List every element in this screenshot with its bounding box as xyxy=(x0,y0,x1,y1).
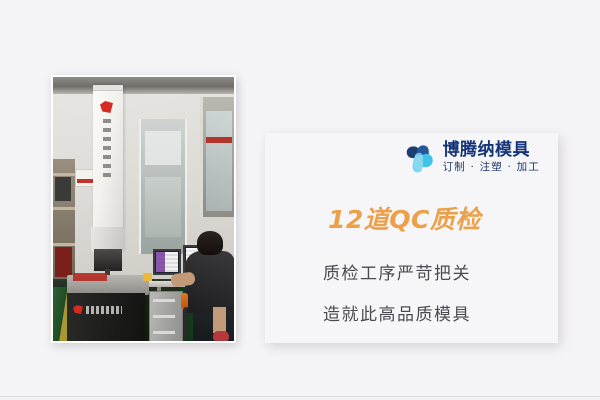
photo-operator-head xyxy=(197,231,223,255)
photo-card xyxy=(51,75,236,343)
photo-operator-shoe xyxy=(213,331,229,341)
factory-cmm-photo xyxy=(53,77,234,341)
photo-controller-cabinet xyxy=(67,293,145,341)
photo-drawer-handle xyxy=(153,331,175,334)
photo-window-red-band xyxy=(206,137,232,143)
body-line: 造就此高品质模具 xyxy=(323,300,471,325)
brand-mark-icon xyxy=(403,140,437,174)
photo-door-inner-panel xyxy=(145,131,181,165)
brand-logo-lockup: 博腾纳模具 订制 · 注塑 · 加工 xyxy=(403,140,540,174)
bottom-divider xyxy=(0,396,600,400)
photo-rack-shelf xyxy=(53,207,75,210)
headline-title: 12道QC质检 xyxy=(328,200,481,236)
brand-text-block: 博腾纳模具 订制 · 注塑 · 加工 xyxy=(443,142,540,173)
photo-cmm-vertical-text xyxy=(103,119,111,177)
photo-window-glass xyxy=(206,111,232,211)
photo-ceiling xyxy=(53,77,234,94)
photo-monitor-left xyxy=(153,249,181,275)
photo-drawer-handle xyxy=(153,299,175,302)
photo-rack-box xyxy=(55,177,71,201)
photo-cmm-column-top xyxy=(93,85,123,91)
photo-rack-shelf xyxy=(53,173,75,176)
content-panel: 博腾纳模具 订制 · 注塑 · 加工 12道QC质检 质检工序严苛把关 造就此高… xyxy=(265,133,558,343)
photo-rack-shelf xyxy=(53,243,75,246)
body-line: 质检工序严苛把关 xyxy=(323,259,471,284)
brand-name: 博腾纳模具 xyxy=(443,142,540,159)
photo-rack-box xyxy=(55,247,72,277)
photo-desk-small-box xyxy=(143,273,152,281)
brand-tagline: 订制 · 注塑 · 加工 xyxy=(443,162,540,173)
photo-door-inner-lower xyxy=(145,177,181,237)
body-copy: 质检工序严苛把关 造就此高品质模具 xyxy=(323,259,471,341)
photo-cabinet-text xyxy=(86,306,122,314)
photo-drawer-handle xyxy=(153,315,175,318)
photo-cable xyxy=(184,307,187,339)
photo-cmm-red-label xyxy=(73,273,107,281)
photo-operator-leg xyxy=(213,307,226,333)
photo-cmm-head xyxy=(94,249,122,271)
